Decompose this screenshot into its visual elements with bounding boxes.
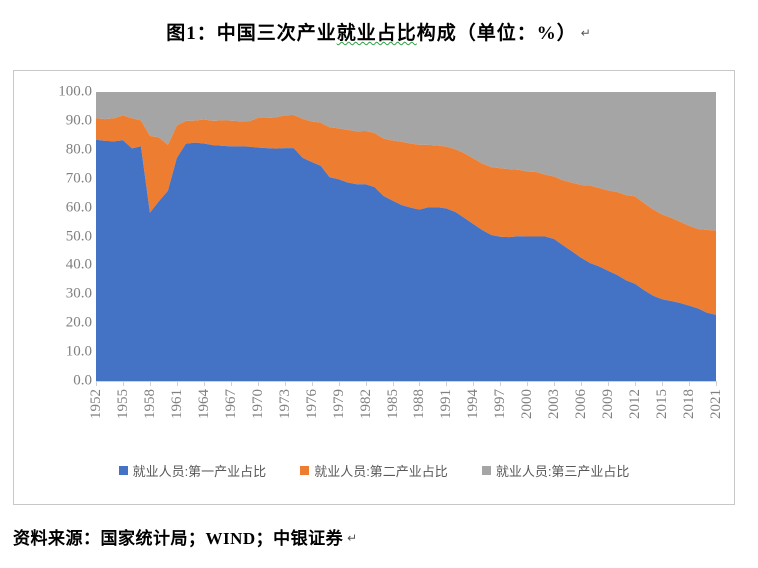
x-axis-tick-label: 1955 [115, 389, 132, 419]
x-axis-tick-label: 1979 [331, 389, 348, 419]
x-axis-tick-label: 1988 [411, 389, 428, 419]
x-axis-tick-label: 2018 [681, 389, 698, 419]
legend-swatch-tertiary [482, 466, 491, 475]
x-axis-tick [581, 381, 582, 386]
y-axis-tick-label: 30.0 [34, 286, 92, 303]
x-axis-tick-label: 1970 [250, 389, 267, 419]
x-axis-tick-label: 2000 [519, 389, 536, 419]
x-axis-tick [446, 381, 447, 386]
figure-title-suffix: 构成（单位：%） [417, 23, 577, 44]
x-axis-tick-label: 2015 [654, 389, 671, 419]
figure-title: 图1：中国三次产业就业占比构成（单位：%）↵ [0, 18, 758, 45]
x-axis-tick [312, 381, 313, 386]
chart-legend: 就业人员:第一产业占比就业人员:第二产业占比就业人员:第三产业占比 [14, 461, 734, 480]
x-axis-tick [96, 381, 97, 386]
x-axis-tick [150, 381, 151, 386]
legend-swatch-primary [119, 466, 128, 475]
chart-container[interactable]: 100.090.080.070.060.050.040.030.020.010.… [13, 70, 735, 505]
legend-item[interactable]: 就业人员:第二产业占比 [300, 461, 448, 480]
x-axis-tick-label: 1994 [465, 389, 482, 419]
x-axis-tick [500, 381, 501, 386]
y-axis-tick-label: 50.0 [34, 228, 92, 245]
x-axis-tick [662, 381, 663, 386]
y-axis-tick-label: 90.0 [34, 112, 92, 129]
x-axis-tick [473, 381, 474, 386]
x-axis-tick-label: 1964 [196, 389, 213, 419]
x-axis-tick [231, 381, 232, 386]
source-note: 资料来源：国家统计局；WIND；中银证券↵ [13, 524, 358, 549]
paragraph-mark-icon: ↵ [577, 26, 592, 40]
y-axis-tick-label: 0.0 [34, 373, 92, 390]
y-axis: 100.090.080.070.060.050.040.030.020.010.… [28, 92, 92, 381]
x-axis-tick [339, 381, 340, 386]
x-axis-tick-label: 1976 [304, 389, 321, 419]
legend-swatch-secondary [300, 466, 309, 475]
y-axis-tick-label: 70.0 [34, 170, 92, 187]
y-axis-tick-label: 100.0 [34, 84, 92, 101]
x-axis-tick [177, 381, 178, 386]
x-axis-tick [366, 381, 367, 386]
legend-item-label: 就业人员:第二产业占比 [314, 461, 448, 480]
y-axis-tick-label: 20.0 [34, 315, 92, 332]
legend-item-label: 就业人员:第三产业占比 [496, 461, 630, 480]
x-axis-tick-label: 1991 [438, 389, 455, 419]
x-axis-tick-label: 1958 [142, 389, 159, 419]
legend-item[interactable]: 就业人员:第三产业占比 [482, 461, 630, 480]
x-axis-tick-label: 1967 [223, 389, 240, 419]
x-axis-tick [123, 381, 124, 386]
x-axis-tick-label: 2006 [573, 389, 590, 419]
x-axis-tick-label: 1961 [169, 389, 186, 419]
source-note-text: 资料来源：国家统计局；WIND；中银证券 [13, 529, 343, 548]
x-axis-tick-label: 2009 [600, 389, 617, 419]
x-axis-tick-label: 1982 [358, 389, 375, 419]
x-axis-tick-label: 2003 [546, 389, 563, 419]
legend-item[interactable]: 就业人员:第一产业占比 [119, 461, 267, 480]
x-axis-ticks [96, 381, 716, 387]
y-axis-tick-label: 80.0 [34, 141, 92, 158]
paragraph-mark-icon: ↵ [343, 531, 358, 545]
x-axis-tick-label: 2012 [627, 389, 644, 419]
x-axis-tick [393, 381, 394, 386]
x-axis-tick [608, 381, 609, 386]
x-axis-tick [527, 381, 528, 386]
x-axis-tick [285, 381, 286, 386]
stacked-area-chart[interactable] [96, 92, 716, 381]
x-axis-tick-label: 1997 [492, 389, 509, 419]
y-axis-tick-label: 10.0 [34, 344, 92, 361]
figure-title-spellcheck-text: 就业占比 [337, 23, 417, 44]
figure-title-prefix: 图1：中国三次产业 [166, 23, 337, 44]
x-axis-tick-label: 1985 [385, 389, 402, 419]
x-axis-tick [204, 381, 205, 386]
legend-item-label: 就业人员:第一产业占比 [133, 461, 267, 480]
x-axis-tick-label: 1973 [277, 389, 294, 419]
plot-area[interactable] [96, 92, 716, 381]
x-axis-tick [689, 381, 690, 386]
x-axis: 1952195519581961196419671970197319761979… [96, 389, 716, 445]
y-axis-tick-label: 60.0 [34, 199, 92, 216]
x-axis-tick [635, 381, 636, 386]
x-axis-tick [419, 381, 420, 386]
x-axis-tick [716, 381, 717, 386]
x-axis-tick [258, 381, 259, 386]
x-axis-tick [554, 381, 555, 386]
x-axis-tick-label: 1952 [88, 389, 105, 419]
y-axis-tick-label: 40.0 [34, 257, 92, 274]
x-axis-tick-label: 2021 [708, 389, 725, 419]
